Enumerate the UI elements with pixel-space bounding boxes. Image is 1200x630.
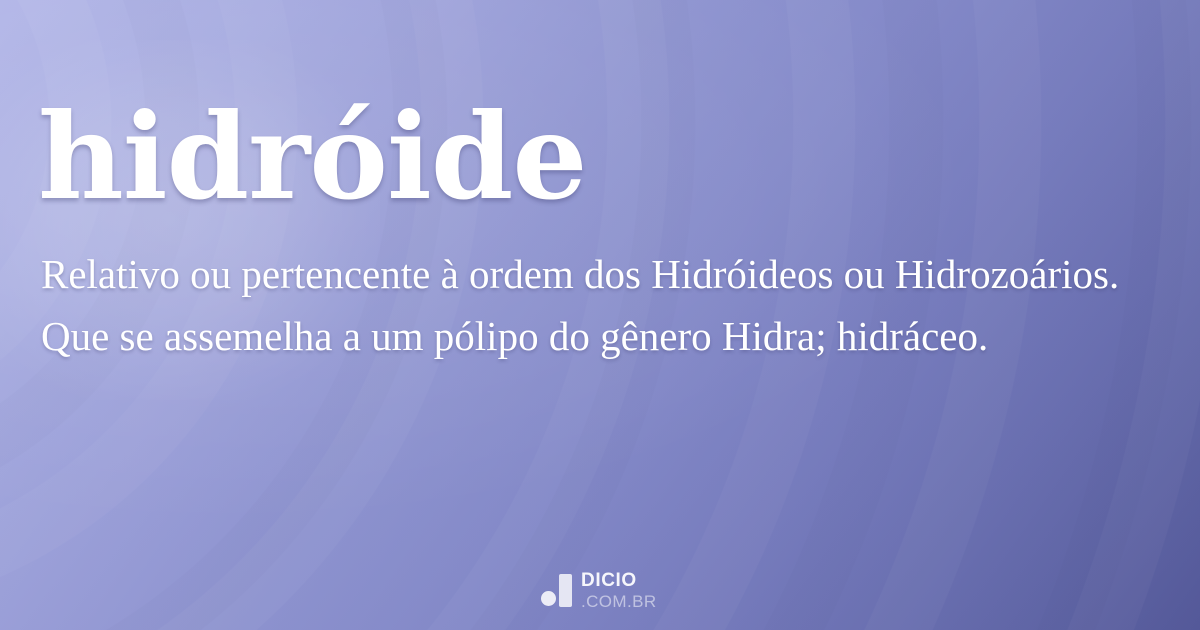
logo-bar-shape bbox=[559, 574, 572, 607]
definition-item: Que se assemelha a um pólipo do gênero H… bbox=[41, 305, 1166, 367]
logo-wordmark: DICIO .COM.BR bbox=[581, 571, 657, 610]
dicio-word-card: hidróide Relativo ou pertencente à ordem… bbox=[0, 0, 1200, 630]
dicio-logo-icon bbox=[541, 574, 572, 607]
definition-item: Relativo ou pertencente à ordem dos Hidr… bbox=[41, 243, 1166, 305]
definition-list: Relativo ou pertencente à ordem dos Hidr… bbox=[41, 243, 1166, 367]
logo-circle-shape bbox=[541, 591, 556, 606]
dicio-logo[interactable]: DICIO .COM.BR bbox=[541, 568, 665, 612]
card-content: hidróide Relativo ou pertencente à ordem… bbox=[0, 0, 1200, 630]
headword-title: hidróide bbox=[38, 97, 586, 217]
logo-domain-suffix: .COM.BR bbox=[581, 593, 657, 610]
logo-brand-name: DICIO bbox=[581, 571, 657, 590]
